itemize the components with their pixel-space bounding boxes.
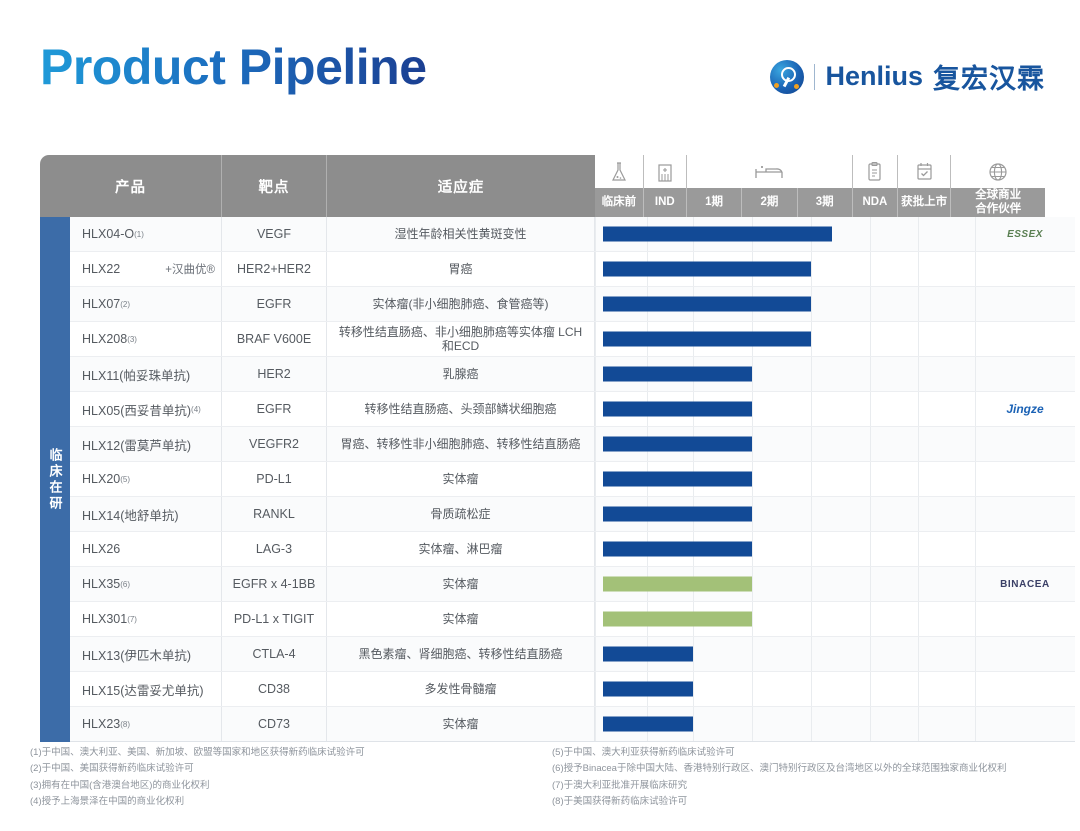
cell-indication: 骨质疏松症 <box>327 497 595 531</box>
stage-grid-line <box>752 462 753 496</box>
cell-product: HLX14(地舒单抗) <box>70 497 222 531</box>
cell-stage-bar <box>595 602 975 636</box>
brand-name-cn: 复宏汉霖 <box>933 57 1045 96</box>
cell-indication: 实体瘤 <box>327 707 595 741</box>
table-body: 临床在研 HLX04-O(1)VEGF湿性年龄相关性黄斑变性ESSEXHLX22… <box>40 217 1045 742</box>
stage-grid-line <box>918 357 919 391</box>
product-name: HLX11(帕妥珠单抗) <box>82 365 190 384</box>
stage-grid-line <box>811 497 812 531</box>
cell-product: HLX07(2) <box>70 287 222 321</box>
table-row[interactable]: HLX35(6)EGFR x 4-1BB实体瘤BINACEA <box>70 567 1075 602</box>
table-row[interactable]: HLX07(2)EGFR实体瘤(非小细胞肺癌、食管癌等) <box>70 287 1075 322</box>
stage-grid-line <box>752 357 753 391</box>
stage-grid-line <box>811 567 812 601</box>
brand-name-en: Henlius <box>825 61 923 92</box>
cell-stage-bar <box>595 637 975 671</box>
column-header-indication: 适应症 <box>327 155 595 217</box>
page-title: Product Pipeline <box>40 40 427 95</box>
stage-grid-line <box>918 462 919 496</box>
cell-partner <box>975 427 1075 461</box>
stage-icons-row <box>595 155 1045 188</box>
stage-grid-line <box>693 672 694 706</box>
table-row[interactable]: HLX04-O(1)VEGF湿性年龄相关性黄斑变性ESSEX <box>70 217 1075 252</box>
henlius-logo-icon <box>770 60 804 94</box>
footnote-item: (5)于中国、澳大利亚获得新药临床试验许可 <box>552 745 1050 761</box>
stage-grid-line <box>918 322 919 356</box>
cell-product: HLX301(7) <box>70 602 222 636</box>
table-header-row: 产品 靶点 适应症 <box>40 155 1045 217</box>
product-name: HLX12(雷莫芦单抗) <box>82 435 191 454</box>
cell-indication: 实体瘤 <box>327 602 595 636</box>
product-footnote-ref: (3) <box>127 335 137 344</box>
stage-grid-line <box>811 252 812 286</box>
stage-grid-line <box>918 217 919 251</box>
footnote-item: (4)授予上海景泽在中国的商业化权利 <box>30 794 540 810</box>
cell-target: PD-L1 <box>222 462 327 496</box>
cell-target: LAG-3 <box>222 532 327 566</box>
stage-grid-line <box>811 392 812 426</box>
progress-bar <box>603 577 752 592</box>
stage-grid-line <box>811 322 812 356</box>
cell-stage-bar <box>595 427 975 461</box>
essex-logo-icon: ESSEX <box>1007 229 1043 240</box>
pipeline-table: 产品 靶点 适应症 <box>40 155 1045 742</box>
footnote-item: (3)拥有在中国(含港澳台地区)的商业化权利 <box>30 778 540 794</box>
cell-stage-bar <box>595 707 975 741</box>
cell-partner <box>975 602 1075 636</box>
stage-grid-line <box>975 532 976 566</box>
stage-label-preclinical: 临床前 <box>595 188 644 217</box>
flask-icon <box>595 155 644 188</box>
product-footnote-ref: (7) <box>127 615 137 624</box>
stage-grid-line <box>752 392 753 426</box>
progress-bar <box>603 262 811 277</box>
cell-product: HLX22+汉曲优® <box>70 252 222 286</box>
column-header-product: 产品 <box>40 155 222 217</box>
cell-target: PD-L1 x TIGIT <box>222 602 327 636</box>
table-row[interactable]: HLX26LAG-3实体瘤、淋巴瘤 <box>70 532 1075 567</box>
cell-stage-bar <box>595 287 975 321</box>
cell-partner <box>975 322 1075 356</box>
stage-grid-line <box>811 532 812 566</box>
stage-grid-line <box>595 707 596 741</box>
stage-grid-line <box>693 637 694 671</box>
cell-stage-bar <box>595 497 975 531</box>
column-header-partner: 全球商业 合作伙伴 <box>951 188 1045 217</box>
cell-stage-bar <box>595 252 975 286</box>
cell-stage-bar <box>595 672 975 706</box>
cell-target: EGFR x 4-1BB <box>222 567 327 601</box>
stage-grid-line <box>975 707 976 741</box>
cell-partner <box>975 497 1075 531</box>
stage-grid-line <box>752 427 753 461</box>
cell-product: HLX20(5) <box>70 462 222 496</box>
stage-grid-line <box>595 532 596 566</box>
product-footnote-ref: (2) <box>120 300 130 309</box>
cell-product: HLX05(西妥昔单抗)(4) <box>70 392 222 426</box>
progress-bar <box>603 682 693 697</box>
footnotes-right-column: (5)于中国、澳大利亚获得新药临床试验许可(6)授予Binacea于除中国大陆、… <box>540 745 1050 810</box>
table-row[interactable]: HLX12(雷莫芦单抗)VEGFR2胃癌、转移性非小细胞肺癌、转移性结直肠癌 <box>70 427 1075 462</box>
stage-grid-line <box>918 707 919 741</box>
product-name: HLX14(地舒单抗) <box>82 505 179 524</box>
stage-grid-line <box>918 532 919 566</box>
product-name: HLX15(达雷妥尤单抗) <box>82 680 204 699</box>
stage-grid-line <box>975 602 976 636</box>
stage-grid-line <box>595 287 596 321</box>
stage-grid-line <box>975 322 976 356</box>
cell-indication: 胃癌、转移性非小细胞肺癌、转移性结直肠癌 <box>327 427 595 461</box>
cell-partner: Jingze <box>975 392 1075 426</box>
stage-grid-line <box>918 392 919 426</box>
stage-grid-line <box>870 532 871 566</box>
stage-label-phase1: 1期 <box>687 188 742 217</box>
stage-grid-line <box>975 252 976 286</box>
stage-grid-line <box>752 637 753 671</box>
stage-grid-line <box>752 707 753 741</box>
cell-partner <box>975 672 1075 706</box>
progress-bar <box>603 332 811 347</box>
stage-grid-line <box>918 252 919 286</box>
table-row[interactable]: HLX208(3)BRAF V600E转移性结直肠癌、非小细胞肺癌等实体瘤 LC… <box>70 322 1075 357</box>
table-row[interactable]: HLX11(帕妥珠单抗)HER2乳腺癌 <box>70 357 1075 392</box>
column-header-stages: 临床前 IND 1期 2期 3期 NDA 获批上市 全球商业 合作伙伴 <box>595 155 1045 217</box>
cell-target: CD38 <box>222 672 327 706</box>
stage-grid-line <box>811 427 812 461</box>
cell-target: EGFR <box>222 287 327 321</box>
stage-grid-line <box>918 567 919 601</box>
cell-indication: 实体瘤、淋巴瘤 <box>327 532 595 566</box>
stage-grid-line <box>595 567 596 601</box>
cell-partner <box>975 357 1075 391</box>
jingze-logo-icon: Jingze <box>1006 402 1043 416</box>
cell-indication: 黑色素瘤、肾细胞癌、转移性结直肠癌 <box>327 637 595 671</box>
cell-product: HLX11(帕妥珠单抗) <box>70 357 222 391</box>
stage-grid-line <box>752 532 753 566</box>
cell-product: HLX35(6) <box>70 567 222 601</box>
cell-stage-bar <box>595 357 975 391</box>
stage-grid-line <box>918 427 919 461</box>
stage-grid-line <box>870 357 871 391</box>
stage-grid-line <box>918 637 919 671</box>
stage-grid-line <box>975 217 976 251</box>
globe-icon <box>951 155 1045 188</box>
section-rail-clinical: 临床在研 <box>40 217 70 742</box>
product-name: HLX22 <box>82 262 120 276</box>
cell-partner: BINACEA <box>975 567 1075 601</box>
stage-grid-line <box>595 252 596 286</box>
stage-grid-line <box>870 217 871 251</box>
footnote-item: (8)于美国获得新药临床试验许可 <box>552 794 1050 810</box>
cell-product: HLX208(3) <box>70 322 222 356</box>
table-row[interactable]: HLX13(伊匹木单抗)CTLA-4黑色素瘤、肾细胞癌、转移性结直肠癌 <box>70 637 1075 672</box>
cell-target: CD73 <box>222 707 327 741</box>
stage-grid-line <box>975 287 976 321</box>
building-icon <box>644 155 687 188</box>
product-name: HLX05(西妥昔单抗) <box>82 400 191 419</box>
stage-grid-line <box>595 217 596 251</box>
product-pipeline-page: Product Pipeline Henlius 复宏汉霖 产品 靶点 适应症 <box>0 0 1080 831</box>
progress-bar <box>603 367 752 382</box>
calendar-check-icon <box>898 155 951 188</box>
stage-grid-line <box>870 497 871 531</box>
stage-grid-line <box>870 427 871 461</box>
stage-grid-line <box>918 497 919 531</box>
stage-grid-line <box>918 602 919 636</box>
stage-grid-line <box>752 497 753 531</box>
product-name: HLX20 <box>82 472 120 486</box>
cell-target: HER2 <box>222 357 327 391</box>
stage-grid-line <box>870 322 871 356</box>
stage-grid-line <box>870 637 871 671</box>
cell-partner <box>975 462 1075 496</box>
cell-target: BRAF V600E <box>222 322 327 356</box>
stage-grid-line <box>595 392 596 426</box>
footnote-item: (2)于中国、美国获得新药临床试验许可 <box>30 761 540 777</box>
table-row[interactable]: HLX20(5)PD-L1实体瘤 <box>70 462 1075 497</box>
cell-target: EGFR <box>222 392 327 426</box>
cell-stage-bar <box>595 217 975 251</box>
partner-label-line2: 合作伙伴 <box>975 203 1021 216</box>
cell-partner: ESSEX <box>975 217 1075 251</box>
product-footnote-ref: (6) <box>120 580 130 589</box>
stage-grid-line <box>693 707 694 741</box>
cell-product: HLX26 <box>70 532 222 566</box>
cell-stage-bar <box>595 392 975 426</box>
product-name: HLX13(伊匹木单抗) <box>82 645 191 664</box>
table-row[interactable]: HLX301(7)PD-L1 x TIGIT实体瘤 <box>70 602 1075 637</box>
table-row[interactable]: HLX23(8)CD73实体瘤 <box>70 707 1075 742</box>
brand-lockup: Henlius 复宏汉霖 <box>770 57 1045 96</box>
stage-grid-line <box>752 602 753 636</box>
product-name: HLX23 <box>82 717 120 731</box>
stage-grid-line <box>975 462 976 496</box>
cell-target: VEGF <box>222 217 327 251</box>
cell-target: CTLA-4 <box>222 637 327 671</box>
stage-grid-line <box>975 392 976 426</box>
progress-bar <box>603 647 693 662</box>
table-row[interactable]: HLX15(达雷妥尤单抗)CD38多发性骨髓瘤 <box>70 672 1075 707</box>
stage-grid-line <box>752 672 753 706</box>
progress-bar <box>603 507 752 522</box>
stage-grid-line <box>811 707 812 741</box>
stage-grid-line <box>918 672 919 706</box>
cell-stage-bar <box>595 567 975 601</box>
stage-grid-line <box>870 567 871 601</box>
cell-indication: 实体瘤 <box>327 567 595 601</box>
product-name: HLX208 <box>82 332 127 346</box>
stage-grid-line <box>595 462 596 496</box>
cell-target: RANKL <box>222 497 327 531</box>
cell-stage-bar <box>595 322 975 356</box>
footnote-item: (7)于澳大利亚批准开展临床研究 <box>552 778 1050 794</box>
stage-label-phase3: 3期 <box>798 188 853 217</box>
progress-bar <box>603 402 752 417</box>
binacea-logo-icon: BINACEA <box>1000 579 1050 590</box>
footnote-item: (1)于中国、澳大利亚、美国、新加坡、欧盟等国家和地区获得新药临床试验许可 <box>30 745 540 761</box>
stage-grid-line <box>870 602 871 636</box>
stage-grid-line <box>595 602 596 636</box>
stage-label-nda: NDA <box>853 188 898 217</box>
cell-product: HLX15(达雷妥尤单抗) <box>70 672 222 706</box>
stage-labels-row: 临床前 IND 1期 2期 3期 NDA 获批上市 全球商业 合作伙伴 <box>595 188 1045 217</box>
stage-grid-line <box>811 287 812 321</box>
stage-grid-line <box>595 357 596 391</box>
cell-indication: 转移性结直肠癌、头颈部鳞状细胞癌 <box>327 392 595 426</box>
stage-grid-line <box>975 427 976 461</box>
cell-partner <box>975 637 1075 671</box>
stage-grid-line <box>870 707 871 741</box>
footnotes: (1)于中国、澳大利亚、美国、新加坡、欧盟等国家和地区获得新药临床试验许可(2)… <box>30 745 1050 810</box>
stage-grid-line <box>870 672 871 706</box>
stage-grid-line <box>811 357 812 391</box>
table-row[interactable]: HLX14(地舒单抗)RANKL骨质疏松症 <box>70 497 1075 532</box>
clipboard-icon <box>853 155 898 188</box>
progress-bar <box>603 227 832 242</box>
stage-grid-line <box>595 637 596 671</box>
cell-indication: 多发性骨髓瘤 <box>327 672 595 706</box>
stage-label-phase2: 2期 <box>742 188 797 217</box>
footnotes-left-column: (1)于中国、澳大利亚、美国、新加坡、欧盟等国家和地区获得新药临床试验许可(2)… <box>30 745 540 810</box>
cell-indication: 转移性结直肠癌、非小细胞肺癌等实体瘤 LCH和ECD <box>327 322 595 356</box>
cell-partner <box>975 252 1075 286</box>
product-footnote-ref: (4) <box>191 405 201 414</box>
cell-product: HLX13(伊匹木单抗) <box>70 637 222 671</box>
cell-indication: 实体瘤 <box>327 462 595 496</box>
stage-grid-line <box>752 567 753 601</box>
stage-grid-line <box>870 252 871 286</box>
product-footnote-ref: (1) <box>134 230 144 239</box>
product-name: HLX04-O <box>82 227 134 241</box>
stage-grid-line <box>595 322 596 356</box>
product-name: HLX35 <box>82 577 120 591</box>
stage-grid-line <box>595 497 596 531</box>
progress-bar <box>603 437 752 452</box>
stage-grid-line <box>811 637 812 671</box>
progress-bar <box>603 612 752 627</box>
combination-label: +汉曲优® <box>165 261 215 277</box>
stage-label-ind: IND <box>644 188 687 217</box>
stage-grid-line <box>870 287 871 321</box>
cell-indication: 胃癌 <box>327 252 595 286</box>
stage-grid-line <box>975 637 976 671</box>
progress-bar <box>603 542 752 557</box>
cell-indication: 乳腺癌 <box>327 357 595 391</box>
cell-indication: 实体瘤(非小细胞肺癌、食管癌等) <box>327 287 595 321</box>
cell-partner <box>975 287 1075 321</box>
stage-grid-line <box>918 287 919 321</box>
column-header-target: 靶点 <box>222 155 327 217</box>
product-name: HLX26 <box>82 542 120 556</box>
stage-grid-line <box>975 497 976 531</box>
cell-target: HER2+HER2 <box>222 252 327 286</box>
cell-stage-bar <box>595 462 975 496</box>
product-footnote-ref: (8) <box>120 720 130 729</box>
stage-grid-line <box>811 602 812 636</box>
partner-label-line1: 全球商业 <box>975 189 1021 202</box>
product-name: HLX301 <box>82 612 127 626</box>
stage-grid-line <box>811 672 812 706</box>
stage-grid-line <box>870 462 871 496</box>
cell-product: HLX12(雷莫芦单抗) <box>70 427 222 461</box>
footnote-item: (6)授予Binacea于除中国大陆、香港特别行政区、澳门特别行政区及台湾地区以… <box>552 761 1050 777</box>
cell-product: HLX23(8) <box>70 707 222 741</box>
cell-indication: 湿性年龄相关性黄斑变性 <box>327 217 595 251</box>
progress-bar <box>603 297 811 312</box>
stage-grid-line <box>811 462 812 496</box>
table-row[interactable]: HLX05(西妥昔单抗)(4)EGFR转移性结直肠癌、头颈部鳞状细胞癌Jingz… <box>70 392 1075 427</box>
cell-partner <box>975 532 1075 566</box>
table-rows: HLX04-O(1)VEGF湿性年龄相关性黄斑变性ESSEXHLX22+汉曲优®… <box>70 217 1075 742</box>
cell-partner <box>975 707 1075 741</box>
brand-divider <box>814 64 815 90</box>
stage-label-approved: 获批上市 <box>898 188 951 217</box>
stage-grid-line <box>975 567 976 601</box>
table-row[interactable]: HLX22+汉曲优®HER2+HER2胃癌 <box>70 252 1075 287</box>
hospital-bed-icon <box>687 155 853 188</box>
progress-bar <box>603 472 752 487</box>
stage-grid-line <box>595 427 596 461</box>
cell-stage-bar <box>595 532 975 566</box>
stage-grid-line <box>975 357 976 391</box>
product-footnote-ref: (5) <box>120 475 130 484</box>
cell-target: VEGFR2 <box>222 427 327 461</box>
product-name: HLX07 <box>82 297 120 311</box>
progress-bar <box>603 717 693 732</box>
cell-product: HLX04-O(1) <box>70 217 222 251</box>
stage-grid-line <box>595 672 596 706</box>
stage-grid-line <box>870 392 871 426</box>
stage-grid-line <box>975 672 976 706</box>
